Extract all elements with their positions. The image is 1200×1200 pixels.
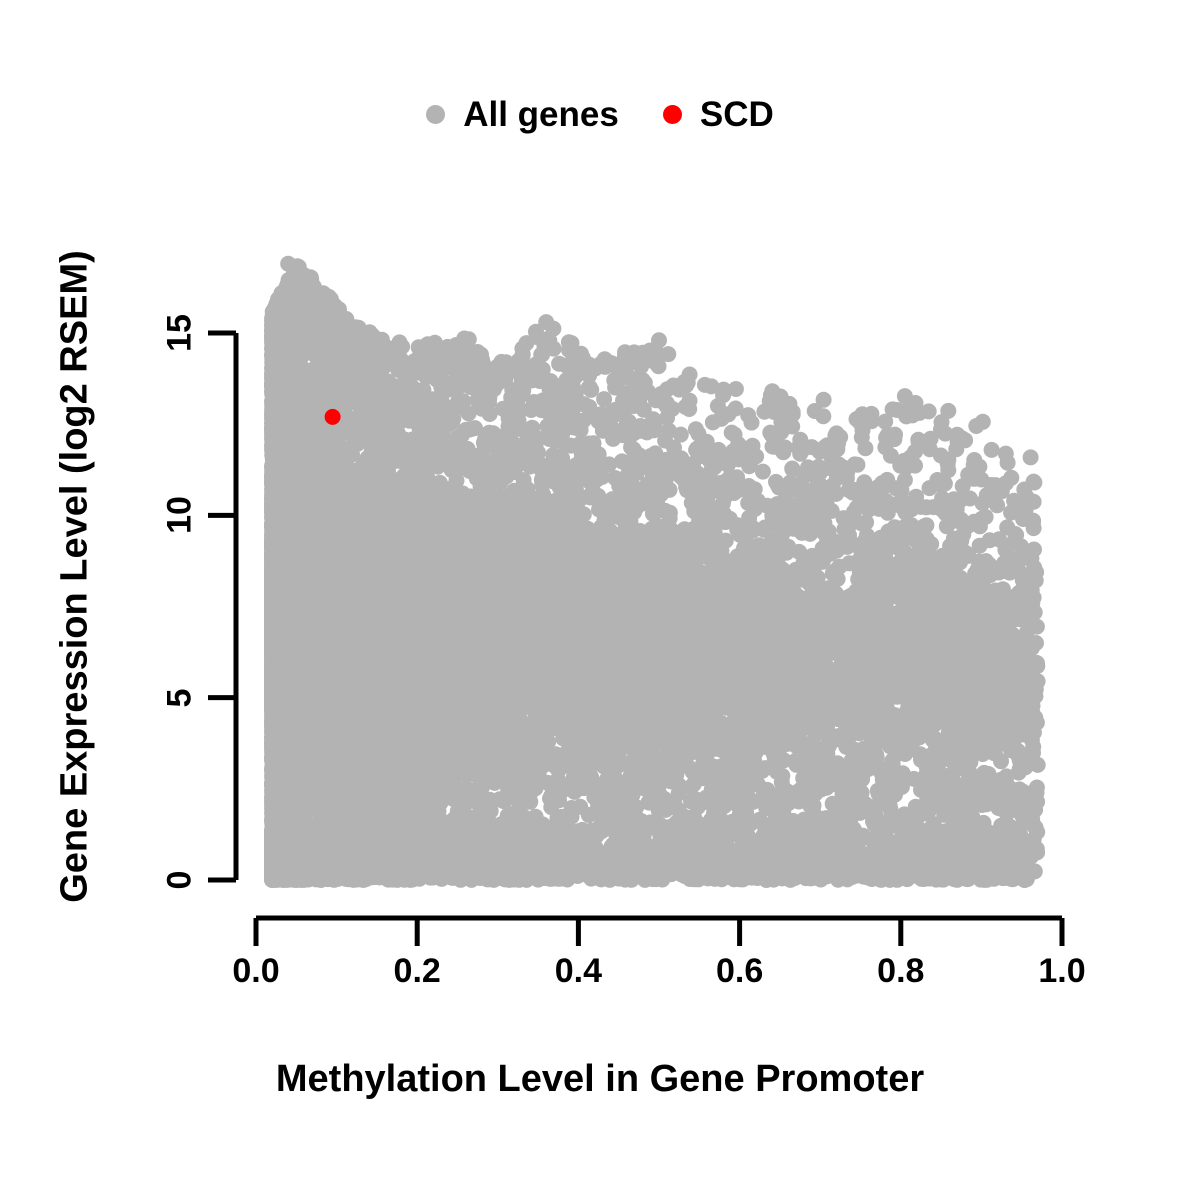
data-points-layer <box>264 256 1046 888</box>
scatter-plot-figure: All genes SCD 0.00.20.40.60.81.0 051015 … <box>0 0 1200 1200</box>
data-point-all-genes <box>1023 449 1039 465</box>
plot-canvas <box>0 0 1200 1200</box>
data-point-all-genes <box>596 391 612 407</box>
